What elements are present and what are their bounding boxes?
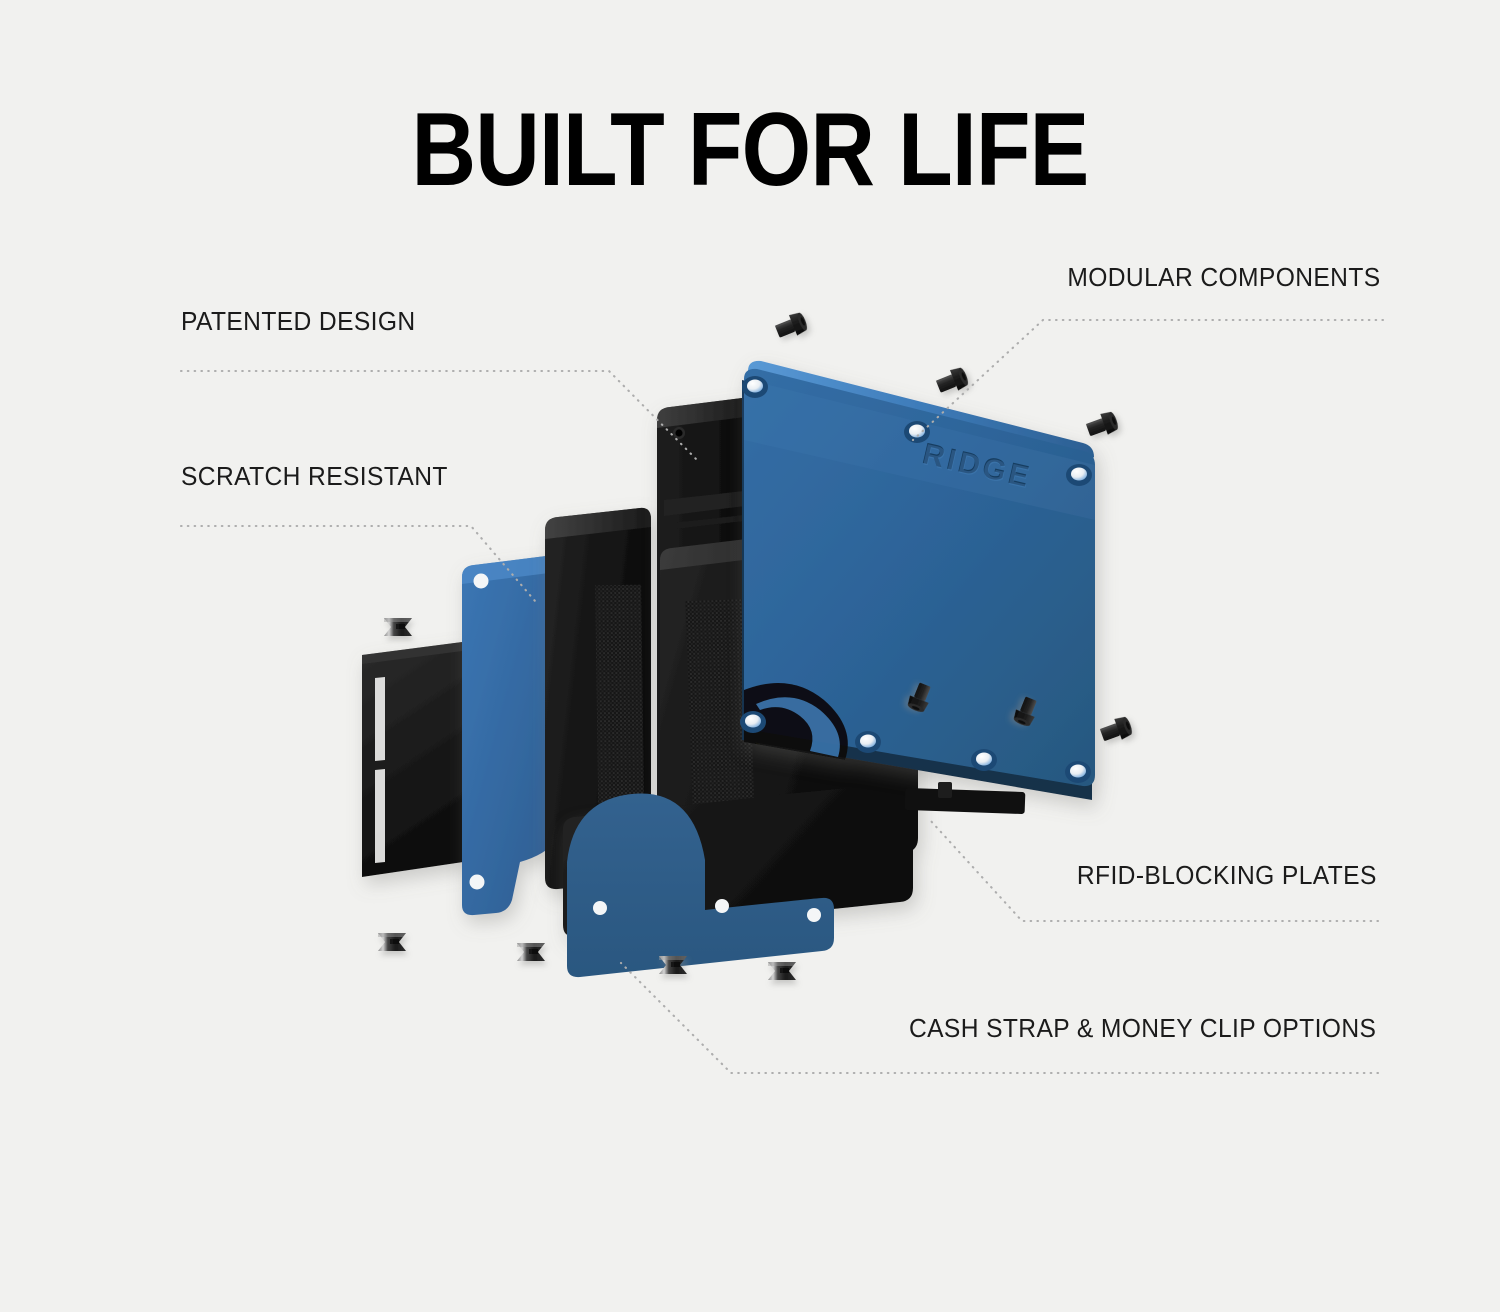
callout-cash-strap-money-clip: CASH STRAP & MONEY CLIP OPTIONS (909, 1015, 1376, 1044)
product-feature-banner: RIDGE RIDGE (0, 0, 1500, 1312)
layer-money-clip (362, 641, 470, 877)
callout-rfid-blocking-plates: RFID-BLOCKING PLATES (1077, 862, 1377, 891)
screw-side (934, 365, 970, 397)
layer-rfid-plate-rear (462, 556, 557, 915)
screw-front (517, 943, 545, 961)
callout-modular-components: MODULAR COMPONENTS (1068, 264, 1381, 293)
callout-patented-design: PATENTED DESIGN (181, 308, 416, 337)
screw-side (1098, 714, 1134, 745)
screw-side (773, 310, 809, 342)
screw-front (384, 618, 412, 636)
layer-front-plate: RIDGE RIDGE (740, 361, 1095, 800)
screw-side (1084, 409, 1120, 440)
plate-detail-nub (905, 782, 1026, 814)
screw-front (768, 962, 796, 980)
page-title: BUILT FOR LIFE (105, 98, 1395, 202)
screw-front (378, 933, 406, 951)
callout-scratch-resistant: SCRATCH RESISTANT (181, 463, 448, 492)
